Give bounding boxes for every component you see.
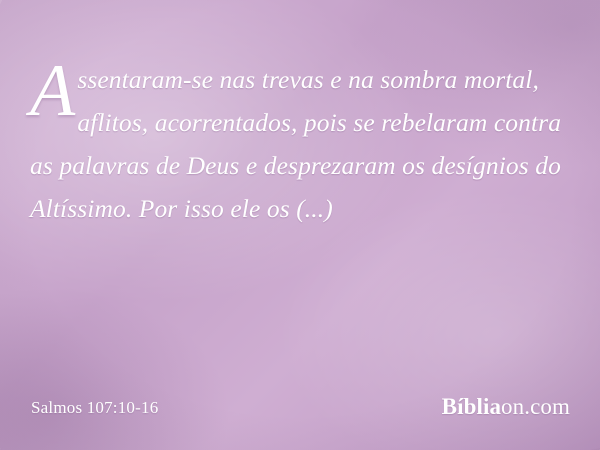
- verse-reference: Salmos 107:10-16: [31, 398, 158, 418]
- brand-domain-suffix: on.com: [501, 394, 570, 419]
- verse-text-block: Assentaram-se nas trevas e na sombra mor…: [30, 58, 578, 230]
- brand-name: Bíblia: [442, 394, 501, 419]
- verse-dropcap: A: [30, 60, 77, 118]
- verse-body: ssentaram-se nas trevas e na sombra mort…: [30, 65, 561, 223]
- footer: Salmos 107:10-16 Bíbliaon.com: [0, 394, 600, 424]
- brand-logo[interactable]: Bíbliaon.com: [442, 394, 570, 420]
- verse-image-card: Assentaram-se nas trevas e na sombra mor…: [0, 0, 600, 450]
